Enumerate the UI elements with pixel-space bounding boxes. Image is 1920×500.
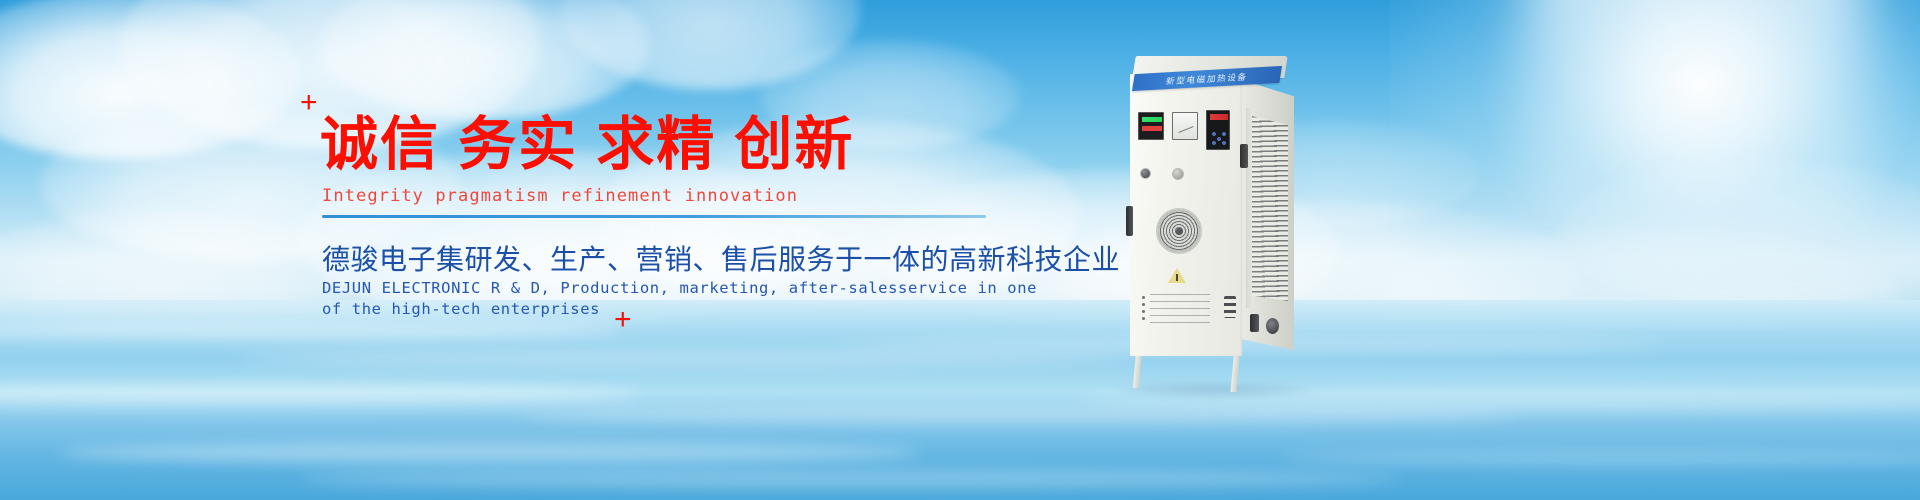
spec-text-block xyxy=(1150,294,1210,328)
cooling-fan-grille-icon xyxy=(1156,208,1202,254)
analog-meter-icon xyxy=(1172,112,1198,140)
plus-decoration-bottom: + xyxy=(614,305,632,335)
banner-lead-chinese: 德骏电子集研发、生产、营销、售后服务于一体的高新科技企业 xyxy=(322,238,1120,278)
spec-bullet xyxy=(1142,296,1145,299)
sun-glow xyxy=(1390,0,1920,320)
bottom-latch xyxy=(1250,314,1259,332)
divider-line xyxy=(322,215,986,218)
plus-decoration-top: + xyxy=(300,88,318,118)
spec-bullet xyxy=(1142,310,1145,313)
banner-lead-english-line1: DEJUN ELECTRONIC R & D, Production, mark… xyxy=(322,276,1037,300)
rotary-knob-icon xyxy=(1172,168,1184,180)
banner-subtitle-english: Integrity pragmatism refinement innovati… xyxy=(322,186,798,206)
spec-bullet xyxy=(1142,317,1145,320)
cloud-shape xyxy=(1380,230,1900,330)
wave-streak xyxy=(1280,450,1920,466)
digital-display-icon xyxy=(1138,112,1164,140)
banner-copy: + 诚信 务实 求精 创新 Integrity pragmatism refin… xyxy=(0,0,1100,500)
banner-lead-english-line2: of the high-tech enterprises xyxy=(322,300,600,318)
spec-bullet xyxy=(1142,303,1145,306)
cloud-shape xyxy=(1560,160,1920,310)
door-hinge xyxy=(1240,144,1248,168)
door-handle xyxy=(1126,206,1133,236)
selector-knob-icon xyxy=(1140,168,1151,179)
ventilation-louvers xyxy=(1252,116,1288,301)
hero-banner: + 诚信 务实 求精 创新 Integrity pragmatism refin… xyxy=(0,0,1920,500)
banner-headline: 诚信 务实 求精 创新 xyxy=(320,116,854,174)
sun-ray xyxy=(1530,0,1860,370)
warning-triangle-icon xyxy=(1168,268,1186,283)
keypad-icon xyxy=(1206,110,1230,150)
cable-port xyxy=(1266,318,1279,334)
control-panel xyxy=(1138,112,1236,160)
product-shadow xyxy=(1120,382,1310,398)
bottom-vent-slots xyxy=(1224,296,1236,318)
product-image-induction-heater: 新型电磁加热设备 xyxy=(1120,56,1340,386)
